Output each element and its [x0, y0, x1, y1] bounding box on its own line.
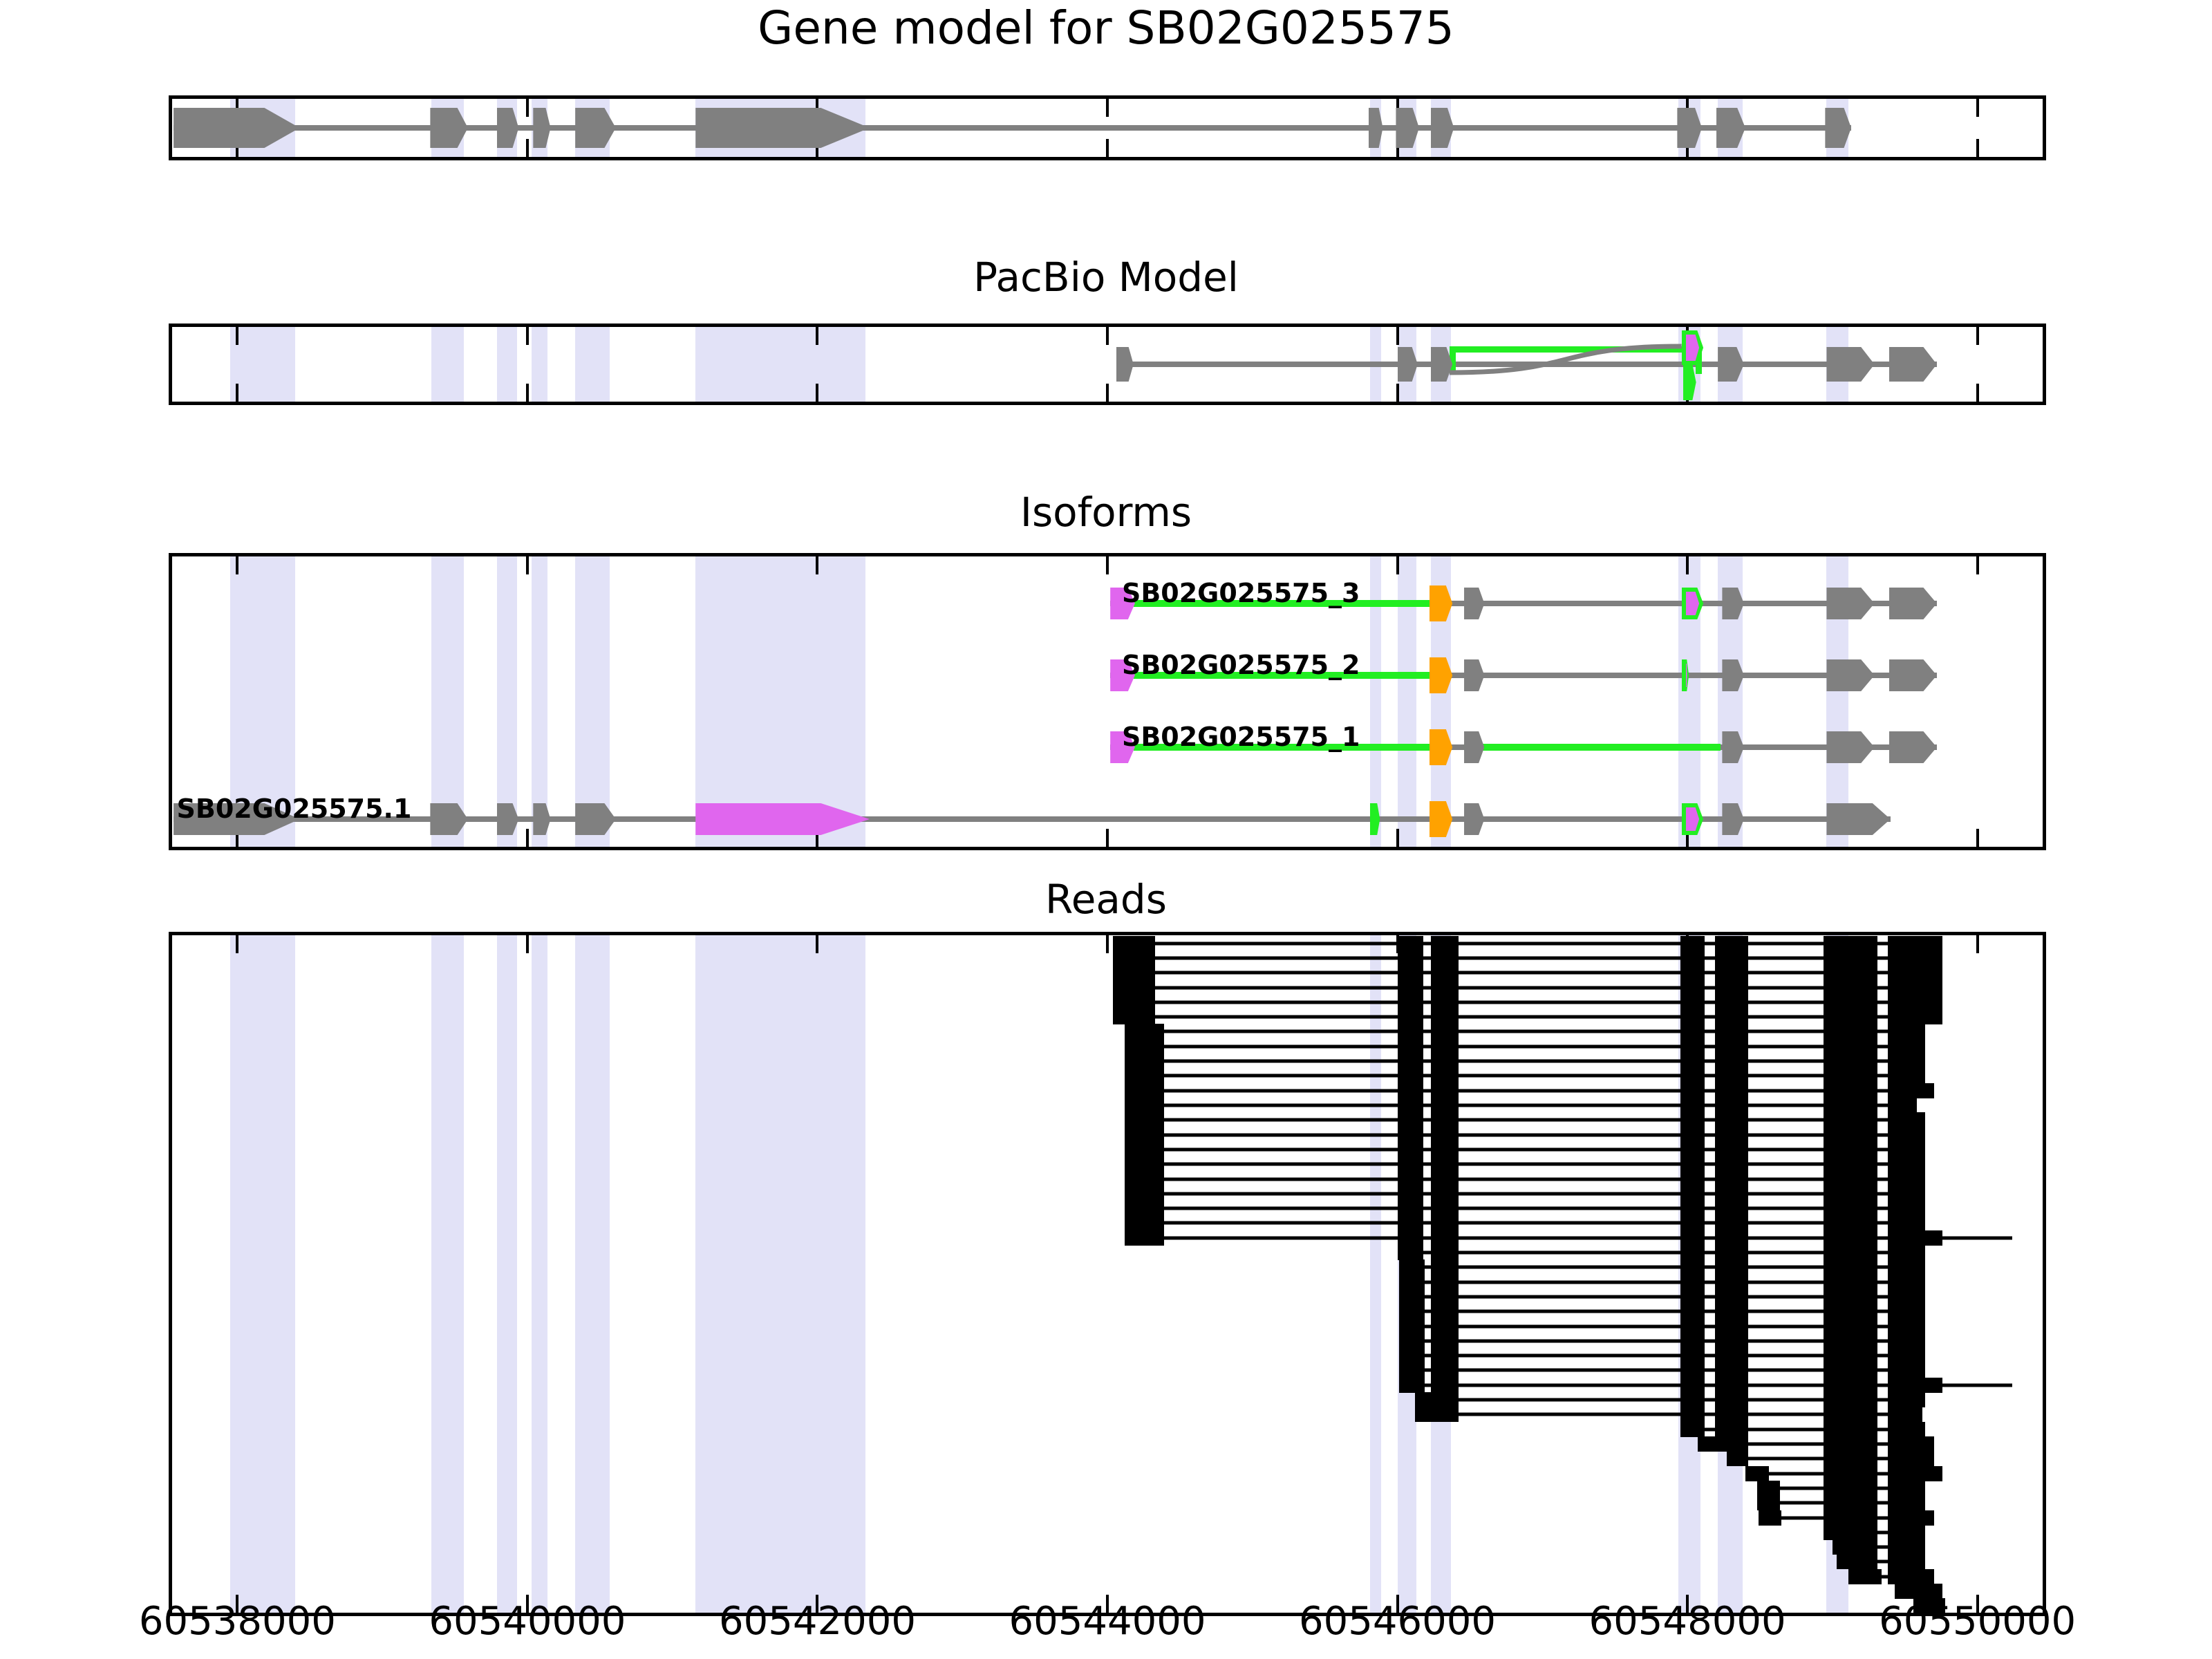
- read-exon-block: [1680, 1348, 1705, 1363]
- exon-gray: [1889, 731, 1937, 763]
- read-exon-block: [1680, 1362, 1705, 1378]
- read-exon-block: [1824, 1186, 1877, 1201]
- read-exon-block: [1399, 1333, 1424, 1349]
- read-row: [172, 1246, 2043, 1259]
- exon-gray: [497, 803, 518, 835]
- isoforms-track: SB02G025575_3SB02G025575_2SB02G025575_1S…: [169, 553, 2046, 850]
- read-exon-block: [1715, 1098, 1748, 1113]
- exon-gray: [575, 108, 616, 148]
- read-exon-block: [1824, 1407, 1877, 1422]
- isoform-row: [172, 793, 2043, 845]
- read-exon-block: [1431, 965, 1459, 980]
- exon-gray: [1826, 659, 1874, 691]
- reads-track: [169, 932, 2046, 1616]
- read-exon-block: [1680, 1259, 1705, 1275]
- axis-tick: [236, 556, 238, 574]
- read-row: [172, 1025, 2043, 1038]
- read-exon-block: [1888, 1378, 1943, 1393]
- read-exon-block: [1824, 1525, 1877, 1540]
- read-exon-block: [1888, 1495, 1926, 1510]
- read-exon-block: [1715, 1275, 1748, 1290]
- read-exon-block: [1698, 1436, 1705, 1452]
- read-row: [172, 1511, 2043, 1524]
- read-exon-block: [1399, 1378, 1424, 1393]
- read-exon-block: [1680, 1422, 1705, 1437]
- read-exon-block: [1431, 1319, 1459, 1334]
- read-exon-block: [1125, 1215, 1164, 1230]
- read-exon-block: [1680, 1039, 1705, 1054]
- exon-gray: [1889, 588, 1937, 619]
- read-intron-line: [1125, 1192, 1925, 1195]
- read-exon-block: [1431, 1142, 1459, 1157]
- read-exon-block: [1680, 1098, 1705, 1113]
- read-exon-block: [1125, 1186, 1164, 1201]
- exon-orange: [1430, 729, 1453, 765]
- read-exon-block: [1824, 1275, 1877, 1290]
- read-exon-block: [1824, 1215, 1877, 1230]
- read-row: [172, 1128, 2043, 1141]
- read-row: [172, 995, 2043, 1009]
- read-row: [172, 1349, 2043, 1362]
- read-exon-block: [1888, 1009, 1943, 1024]
- read-intron-line: [1125, 1147, 1925, 1151]
- read-exon-block: [1888, 1510, 1934, 1526]
- read-exon-block: [1888, 1554, 1926, 1569]
- read-exon-block: [1431, 1186, 1459, 1201]
- read-exon-block: [1125, 1172, 1164, 1187]
- read-exon-block: [1398, 1127, 1424, 1143]
- read-exon-block: [1680, 1172, 1705, 1187]
- read-exon-block: [1431, 995, 1459, 1010]
- read-intron-line: [1113, 1000, 1942, 1004]
- read-exon-block: [1715, 1230, 1748, 1246]
- exon-mg-out: [1682, 659, 1689, 691]
- read-exon-block: [1680, 1378, 1705, 1393]
- read-exon-block: [1431, 950, 1459, 966]
- read-exon-block: [1680, 1289, 1705, 1304]
- read-exon-block: [1824, 1039, 1877, 1054]
- read-exon-block: [1888, 1539, 1926, 1555]
- read-exon-block: [1680, 1142, 1705, 1157]
- read-intron-line: [1125, 1060, 1925, 1063]
- read-row: [172, 1364, 2043, 1377]
- read-exon-block: [1824, 1142, 1877, 1157]
- read-exon-block: [1888, 1289, 1926, 1304]
- read-exon-block: [1398, 1039, 1424, 1054]
- read-exon-block: [1715, 965, 1748, 980]
- read-exon-block: [1715, 1289, 1748, 1304]
- read-exon-block: [1431, 1127, 1459, 1143]
- read-exon-block: [1824, 1392, 1877, 1407]
- exon-gray: [575, 803, 616, 835]
- read-intron-line: [1125, 1030, 1925, 1033]
- read-row: [172, 937, 2043, 950]
- axis-tick: [1106, 556, 1109, 574]
- read-exon-block: [1680, 1230, 1705, 1246]
- exon-mg-out: [1370, 803, 1380, 835]
- read-exon-block: [1680, 1009, 1705, 1024]
- read-row: [172, 1084, 2043, 1097]
- exon-orange: [1430, 657, 1453, 693]
- read-intron-line: [1125, 1118, 1925, 1122]
- read-exon-block: [1715, 1422, 1748, 1437]
- pacbio-model-track: [169, 324, 2046, 405]
- read-exon-block: [1715, 1156, 1748, 1172]
- read-exon-block: [1715, 1245, 1748, 1260]
- read-exon-block: [1888, 1053, 1926, 1069]
- read-exon-block: [1715, 995, 1748, 1010]
- read-intron-line: [1125, 1177, 1925, 1181]
- read-exon-block: [1431, 1362, 1459, 1378]
- gene-model-row: [172, 99, 2043, 157]
- axis-tick-label: 60540000: [429, 1602, 626, 1641]
- read-exon-block: [1680, 1024, 1705, 1039]
- read-exon-block: [1888, 1333, 1926, 1349]
- read-exon-block: [1824, 1319, 1877, 1334]
- axis-tick: [1396, 556, 1399, 574]
- read-exon-block: [1680, 1275, 1705, 1290]
- read-exon-block: [1888, 1024, 1926, 1039]
- isoform-label: SB02G025575_1: [1122, 724, 1360, 750]
- read-exon-block: [1824, 995, 1877, 1010]
- exon-gray: [1369, 108, 1383, 148]
- read-exon-block: [1431, 1275, 1459, 1290]
- figure-title: Gene model for SB02G025575: [0, 6, 2212, 51]
- read-exon-block: [1888, 965, 1943, 980]
- read-exon-block: [1113, 936, 1155, 951]
- read-exon-block: [1715, 1127, 1748, 1143]
- read-exon-block: [1715, 1259, 1748, 1275]
- read-exon-block: [1398, 1024, 1424, 1039]
- read-exon-block: [1125, 1024, 1164, 1039]
- axis-tick: [526, 556, 529, 574]
- exon-gray: [1722, 659, 1743, 691]
- read-exon-block: [1888, 1083, 1934, 1098]
- read-exon-block: [1888, 1112, 1926, 1127]
- read-row: [172, 1040, 2043, 1053]
- exon-orange: [1430, 801, 1453, 837]
- read-exon-block: [1125, 1142, 1164, 1157]
- read-exon-block: [1398, 980, 1424, 995]
- read-exon-block: [1715, 1333, 1748, 1349]
- exon-gray: [1722, 731, 1743, 763]
- read-exon-block: [1398, 1053, 1424, 1069]
- isoform-label: SB02G025575.1: [176, 796, 411, 822]
- read-exon-block: [1398, 1068, 1424, 1083]
- read-exon-block: [1680, 965, 1705, 980]
- read-exon-block: [1824, 1112, 1877, 1127]
- read-exon-block: [1398, 1142, 1424, 1157]
- read-row: [172, 1187, 2043, 1200]
- exon-gray: [1722, 803, 1743, 835]
- read-exon-block: [1848, 1569, 1877, 1584]
- read-exon-block: [1431, 1378, 1459, 1393]
- read-exon-block: [1680, 1156, 1705, 1172]
- read-row: [172, 1011, 2043, 1024]
- read-exon-block: [1745, 1466, 1748, 1481]
- read-exon-block: [1680, 1083, 1705, 1098]
- read-exon-block: [1398, 1112, 1424, 1127]
- read-exon-block: [1125, 1156, 1164, 1172]
- read-exon-block: [1399, 1289, 1424, 1304]
- read-exon-block: [1398, 965, 1424, 980]
- read-intron-line: [1113, 956, 1942, 959]
- read-exon-block: [1824, 1422, 1877, 1437]
- read-exon-block: [1431, 1392, 1459, 1407]
- read-exon-block: [1715, 1172, 1748, 1187]
- exon-gray: [1464, 659, 1484, 691]
- axis-tick-label: 60546000: [1299, 1602, 1496, 1641]
- read-exon-block: [1398, 1201, 1424, 1216]
- read-row: [172, 1290, 2043, 1303]
- read-intron-line: [1125, 1236, 2012, 1239]
- read-exon-block: [1888, 1319, 1926, 1334]
- read-exon-block: [1888, 950, 1943, 966]
- read-exon-block: [1727, 1451, 1748, 1466]
- read-exon-block: [1398, 995, 1424, 1010]
- read-exon-block: [1715, 1053, 1748, 1069]
- isoform-row: [172, 577, 2043, 630]
- exon-gray: [1722, 588, 1743, 619]
- read-exon-block: [1824, 1304, 1877, 1319]
- read-exon-block: [1398, 1172, 1424, 1187]
- read-exon-block: [1824, 1172, 1877, 1187]
- read-exon-block: [1888, 1275, 1926, 1290]
- read-intron-line: [1125, 1163, 1925, 1166]
- read-exon-block: [1398, 1156, 1424, 1172]
- read-exon-block: [1715, 1009, 1748, 1024]
- read-exon-block: [1125, 1039, 1164, 1054]
- read-row: [172, 1217, 2043, 1230]
- read-exon-block: [1680, 980, 1705, 995]
- read-exon-block: [1824, 1451, 1877, 1466]
- read-exon-block: [1715, 1319, 1748, 1334]
- read-exon-block: [1125, 1068, 1164, 1083]
- read-intron-line: [1113, 1015, 1942, 1019]
- read-exon-block: [1431, 1259, 1459, 1275]
- read-exon-block: [1431, 1215, 1459, 1230]
- axis-tick: [1976, 556, 1979, 574]
- read-row: [172, 1261, 2043, 1274]
- read-exon-block: [1399, 1259, 1424, 1275]
- read-row: [172, 1275, 2043, 1288]
- exon-magenta: [695, 803, 870, 835]
- read-exon-block: [1715, 1186, 1748, 1201]
- read-row: [172, 1172, 2043, 1185]
- read-exon-block: [1888, 1392, 1926, 1407]
- read-row: [172, 1158, 2043, 1171]
- read-exon-block: [1824, 1230, 1877, 1246]
- read-exon-block: [1431, 1053, 1459, 1069]
- axis-tick-label: 60548000: [1589, 1602, 1786, 1641]
- read-exon-block: [1824, 1024, 1877, 1039]
- read-exon-block: [1888, 1039, 1926, 1054]
- read-exon-block: [1680, 1245, 1705, 1260]
- read-row: [172, 1069, 2043, 1082]
- read-exon-block: [1113, 1009, 1155, 1024]
- read-exon-block: [1888, 1201, 1926, 1216]
- read-row: [172, 1378, 2043, 1391]
- read-exon-block: [1888, 1362, 1926, 1378]
- read-exon-block: [1431, 1009, 1459, 1024]
- read-row: [172, 1201, 2043, 1215]
- read-row: [172, 981, 2043, 994]
- read-intron-line: [1125, 1074, 1925, 1078]
- isoform-label: SB02G025575_2: [1122, 652, 1360, 678]
- read-row: [172, 966, 2043, 980]
- read-exon-block: [1125, 1098, 1164, 1113]
- splice-line: [1464, 744, 1721, 751]
- read-exon-block: [1398, 1098, 1424, 1113]
- read-exon-block: [1398, 936, 1424, 951]
- read-exon-block: [1125, 1112, 1164, 1127]
- axis-tick-label: 60538000: [139, 1602, 336, 1641]
- read-exon-block: [1888, 1569, 1934, 1584]
- axis-tick-label: 60544000: [1009, 1602, 1206, 1641]
- read-exon-block: [1715, 1201, 1748, 1216]
- read-exon-block: [1715, 1407, 1748, 1422]
- read-exon-block: [1431, 1112, 1459, 1127]
- read-exon-block: [1431, 1024, 1459, 1039]
- exon-mg-out: [1683, 364, 1696, 400]
- read-exon-block: [1398, 1245, 1424, 1260]
- read-exon-block: [1895, 1584, 1942, 1599]
- read-exon-block: [1824, 1156, 1877, 1172]
- read-exon-block: [1715, 980, 1748, 995]
- read-exon-block: [1125, 1230, 1164, 1246]
- exon-orange: [1430, 585, 1453, 621]
- read-exon-block: [1431, 1230, 1459, 1246]
- read-exon-block: [1431, 1083, 1459, 1098]
- read-exon-block: [1888, 1172, 1926, 1187]
- read-exon-block: [1824, 1466, 1877, 1481]
- pacbio-green-exon: [172, 363, 2043, 402]
- exon-gray: [497, 108, 518, 148]
- exon-gray: [430, 108, 468, 148]
- exon-gray: [533, 803, 550, 835]
- read-exon-block: [1398, 1230, 1424, 1246]
- read-row: [172, 1584, 2043, 1597]
- exon-gray: [1464, 803, 1484, 835]
- read-row: [172, 1305, 2043, 1318]
- read-exon-block: [1824, 950, 1877, 966]
- read-exon-block: [1680, 1319, 1705, 1334]
- read-exon-block: [1431, 1407, 1459, 1422]
- read-exon-block: [1398, 950, 1424, 966]
- exon-gray: [174, 108, 299, 148]
- read-exon-block: [1431, 1068, 1459, 1083]
- read-row: [172, 1497, 2043, 1510]
- read-exon-block: [1680, 1392, 1705, 1407]
- read-row: [172, 1526, 2043, 1539]
- read-row: [172, 1334, 2043, 1347]
- read-exon-block: [1888, 1348, 1926, 1363]
- read-exon-block: [1888, 1525, 1926, 1540]
- read-exon-block: [1888, 1259, 1926, 1275]
- read-exon-block: [1824, 1348, 1877, 1363]
- read-exon-block: [1431, 1039, 1459, 1054]
- read-row: [172, 1098, 2043, 1112]
- read-exon-block: [1888, 1245, 1926, 1260]
- read-exon-block: [1113, 980, 1155, 995]
- exon-gray: [1464, 731, 1484, 763]
- read-row: [172, 1481, 2043, 1494]
- read-exon-block: [1715, 1112, 1748, 1127]
- read-intron-line: [1125, 1207, 1925, 1210]
- read-exon-block: [1680, 1127, 1705, 1143]
- read-exon-block: [1824, 1481, 1877, 1496]
- track-title-isoforms: Isoforms: [0, 492, 2212, 532]
- read-exon-block: [1715, 1378, 1748, 1393]
- axis-tick-label: 60542000: [719, 1602, 916, 1641]
- read-exon-block: [1888, 995, 1943, 1010]
- read-exon-block: [1888, 1436, 1934, 1452]
- exon-gray: [430, 803, 468, 835]
- read-exon-block: [1431, 1098, 1459, 1113]
- read-intron-line: [1125, 1044, 1925, 1048]
- read-row: [172, 1408, 2043, 1421]
- read-row: [172, 1437, 2043, 1450]
- read-exon-block: [1888, 1215, 1926, 1230]
- read-exon-block: [1824, 1436, 1877, 1452]
- read-exon-block: [1759, 1510, 1782, 1526]
- read-exon-block: [1824, 1495, 1877, 1510]
- read-exon-block: [1680, 1201, 1705, 1216]
- read-intron-line: [1125, 1089, 1934, 1092]
- axis-tick: [816, 556, 818, 574]
- read-exon-block: [1398, 1009, 1424, 1024]
- read-exon-block: [1824, 1245, 1877, 1260]
- exon-gray: [1825, 108, 1851, 148]
- read-exon-block: [1833, 1539, 1877, 1555]
- read-row: [172, 1143, 2043, 1156]
- read-exon-block: [1888, 1127, 1926, 1143]
- read-exon-block: [1715, 1039, 1748, 1054]
- read-exon-block: [1757, 1495, 1781, 1510]
- read-exon-block: [1431, 980, 1459, 995]
- read-exon-block: [1888, 1407, 1922, 1422]
- read-exon-block: [1680, 1304, 1705, 1319]
- read-exon-block: [1757, 1481, 1781, 1496]
- read-exon-block: [1431, 1289, 1459, 1304]
- read-exon-block: [1715, 1068, 1748, 1083]
- read-row: [172, 1452, 2043, 1465]
- read-exon-block: [1824, 965, 1877, 980]
- read-row: [172, 1320, 2043, 1333]
- exon-gray: [1889, 659, 1937, 691]
- track-title-reads: Reads: [0, 879, 2212, 919]
- read-exon-block: [1398, 1215, 1424, 1230]
- pacbio-highlight-exon: [172, 330, 2043, 366]
- read-exon-block: [1415, 1392, 1424, 1407]
- read-exon-block: [1824, 1127, 1877, 1143]
- read-row: [172, 951, 2043, 964]
- read-exon-block: [1125, 1053, 1164, 1069]
- read-exon-block: [1399, 1348, 1424, 1363]
- read-row: [172, 1114, 2043, 1127]
- read-exon-block: [1431, 1245, 1459, 1260]
- read-exon-block: [1888, 1230, 1943, 1246]
- read-exon-block: [1715, 1304, 1748, 1319]
- read-exon-block: [1824, 1289, 1877, 1304]
- read-exon-block: [1715, 950, 1748, 966]
- read-exon-block: [1113, 995, 1155, 1010]
- exon-gray: [1716, 108, 1745, 148]
- read-exon-block: [1399, 1319, 1424, 1334]
- read-exon-block: [1715, 1362, 1748, 1378]
- read-intron-line: [1125, 1103, 1916, 1107]
- read-exon-block: [1680, 1215, 1705, 1230]
